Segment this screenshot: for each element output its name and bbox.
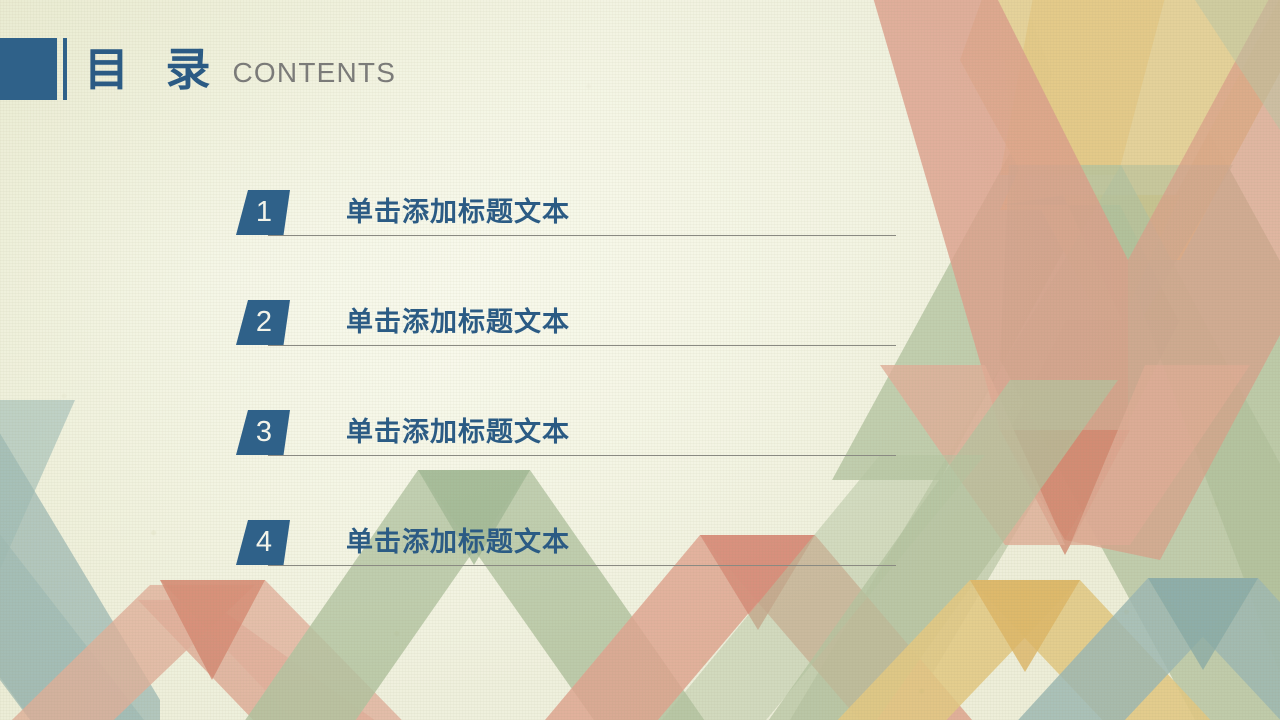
page-title-en: CONTENTS xyxy=(233,51,397,87)
item-underline xyxy=(268,235,896,236)
item-number-badge: 4 xyxy=(236,520,290,565)
item-number-badge: 2 xyxy=(236,300,290,345)
item-number-badge: 1 xyxy=(236,190,290,235)
item-number: 2 xyxy=(256,308,272,337)
item-title[interactable]: 单击添加标题文本 xyxy=(346,192,570,232)
list-item[interactable]: 3 单击添加标题文本 xyxy=(236,410,896,520)
item-underline xyxy=(268,345,896,346)
item-underline xyxy=(268,565,896,566)
item-number-badge: 3 xyxy=(236,410,290,455)
page-title-cn: 目 录 xyxy=(84,47,223,92)
item-title[interactable]: 单击添加标题文本 xyxy=(346,522,570,562)
item-underline xyxy=(268,455,896,456)
vertical-bar-icon xyxy=(63,38,67,100)
list-item[interactable]: 2 单击添加标题文本 xyxy=(236,300,896,410)
contents-slide: 目 录 CONTENTS 1 单击添加标题文本 2 单击添加标题文本 3 单击添… xyxy=(0,0,1280,720)
item-number: 3 xyxy=(256,418,272,447)
list-item[interactable]: 4 单击添加标题文本 xyxy=(236,520,896,630)
item-title[interactable]: 单击添加标题文本 xyxy=(346,412,570,452)
contents-list: 1 单击添加标题文本 2 单击添加标题文本 3 单击添加标题文本 4 单击添加标… xyxy=(236,190,896,630)
item-title[interactable]: 单击添加标题文本 xyxy=(346,302,570,342)
solid-square-block-icon xyxy=(0,38,57,100)
item-number: 4 xyxy=(256,528,272,557)
slide-header: 目 录 CONTENTS xyxy=(0,36,396,102)
item-number: 1 xyxy=(256,198,272,227)
list-item[interactable]: 1 单击添加标题文本 xyxy=(236,190,896,300)
